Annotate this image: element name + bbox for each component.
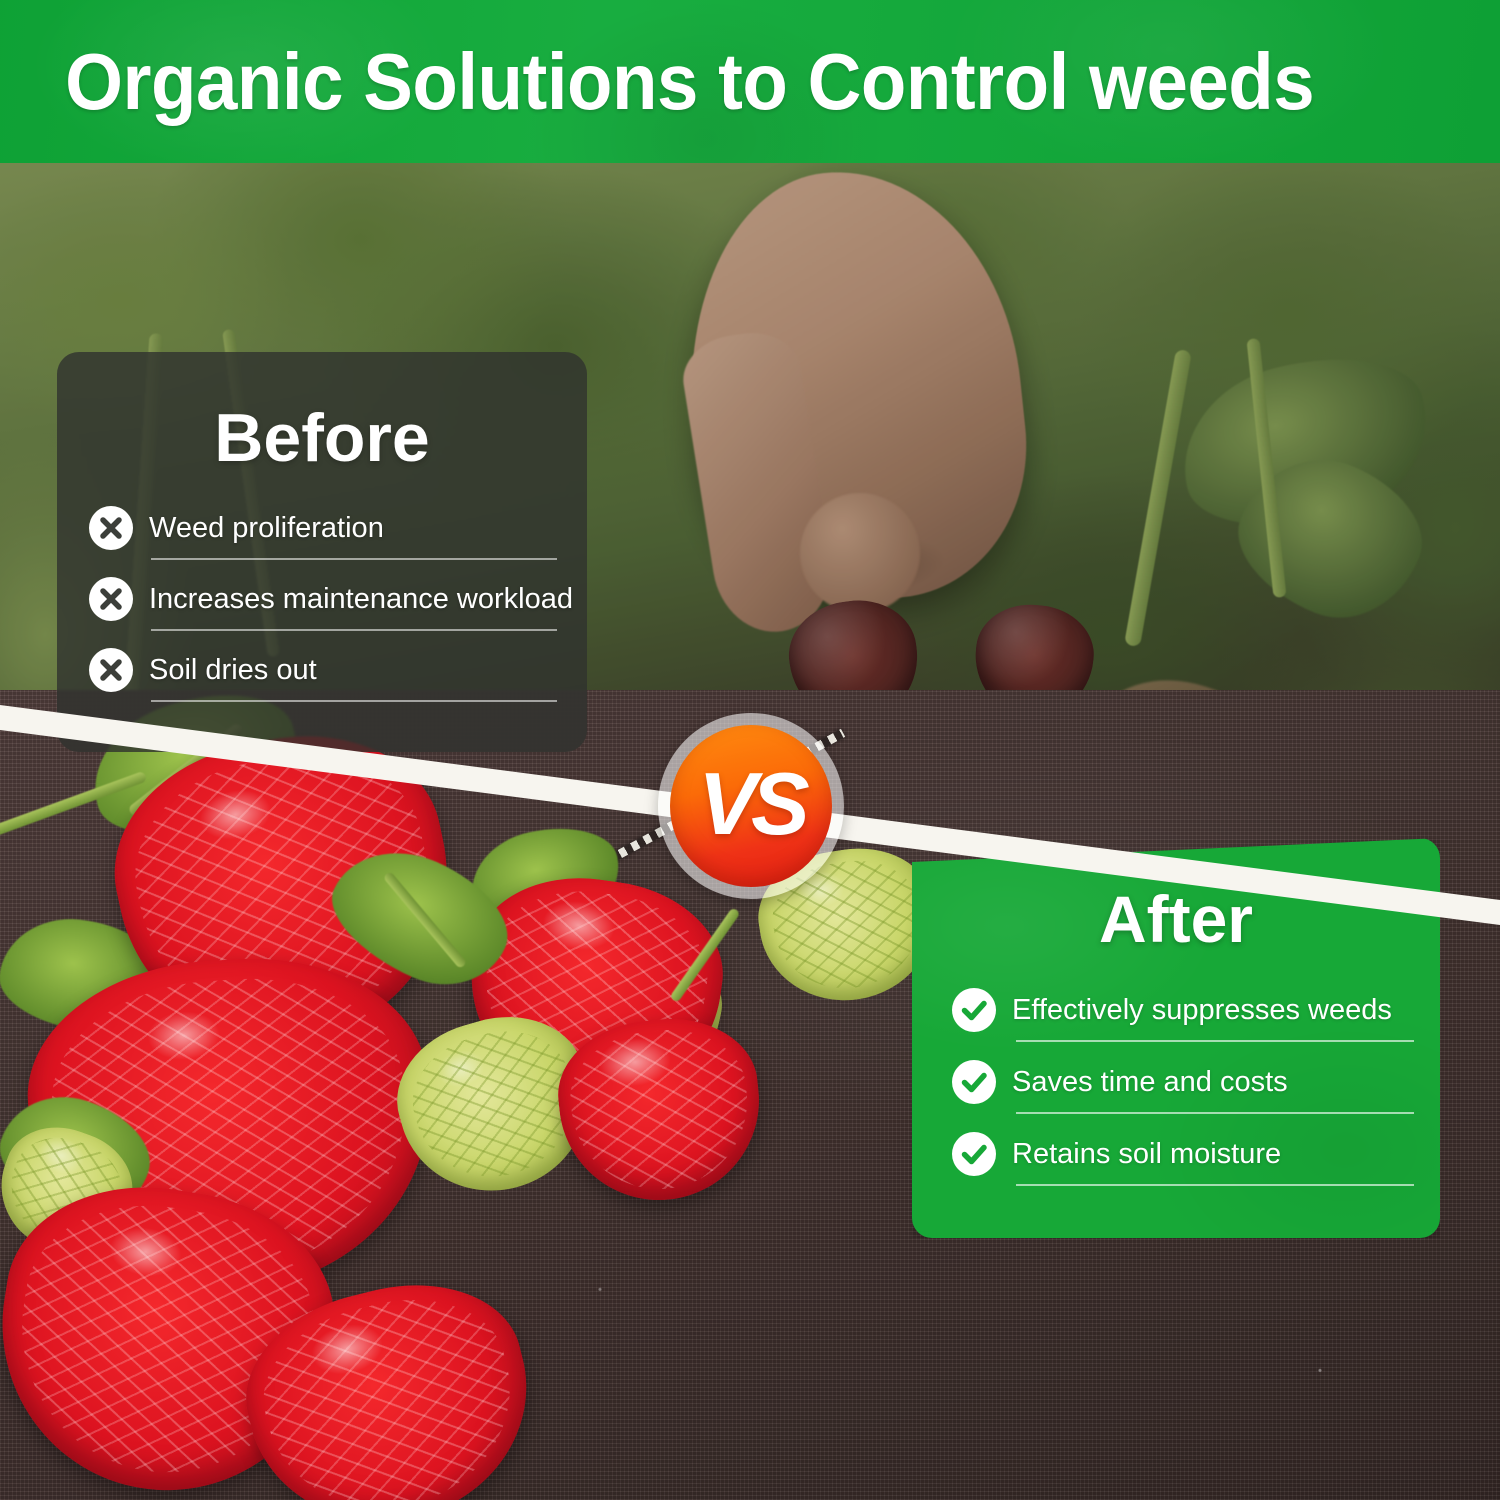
list-item: Saves time and costs [952, 1060, 1418, 1114]
page-title: Organic Solutions to Control weeds [0, 0, 1395, 163]
x-circle-icon [89, 577, 133, 621]
before-panel-title: Before [57, 352, 587, 472]
before-bullet-list: Weed proliferation Increases maintenance… [57, 506, 587, 702]
check-circle-icon [952, 1060, 996, 1104]
list-item-label: Weed proliferation [149, 511, 384, 545]
before-panel: Before Weed proliferation Increases main… [57, 352, 587, 752]
after-panel: After Effectively suppresses weeds Saves… [912, 838, 1440, 1238]
list-item-label: Effectively suppresses weeds [1012, 993, 1392, 1027]
item-divider [151, 558, 557, 560]
list-item-label: Retains soil moisture [1012, 1137, 1281, 1171]
x-circle-icon [89, 506, 133, 550]
vs-badge: VS [658, 713, 844, 899]
item-divider [151, 629, 557, 631]
check-circle-icon [952, 1132, 996, 1176]
after-bullet-list: Effectively suppresses weeds Saves time … [912, 988, 1440, 1186]
plant-stem [1124, 349, 1192, 647]
item-divider [1016, 1112, 1414, 1114]
list-item: Effectively suppresses weeds [952, 988, 1418, 1042]
vs-label: VS [698, 760, 803, 848]
list-item-label: Increases maintenance workload [149, 582, 573, 616]
header-banner: Organic Solutions to Control weeds [0, 0, 1500, 163]
list-item: Increases maintenance workload [89, 577, 561, 631]
list-item: Soil dries out [89, 648, 561, 702]
x-circle-icon [89, 648, 133, 692]
item-divider [1016, 1040, 1414, 1042]
item-divider [1016, 1184, 1414, 1186]
vs-badge-circle: VS [670, 725, 832, 887]
list-item-label: Soil dries out [149, 653, 317, 687]
item-divider [151, 700, 557, 702]
list-item: Retains soil moisture [952, 1132, 1418, 1186]
finger [800, 493, 920, 613]
product-comparison-graphic: Before Weed proliferation Increases main… [0, 0, 1500, 1500]
check-circle-icon [952, 988, 996, 1032]
list-item-label: Saves time and costs [1012, 1065, 1288, 1099]
list-item: Weed proliferation [89, 506, 561, 560]
